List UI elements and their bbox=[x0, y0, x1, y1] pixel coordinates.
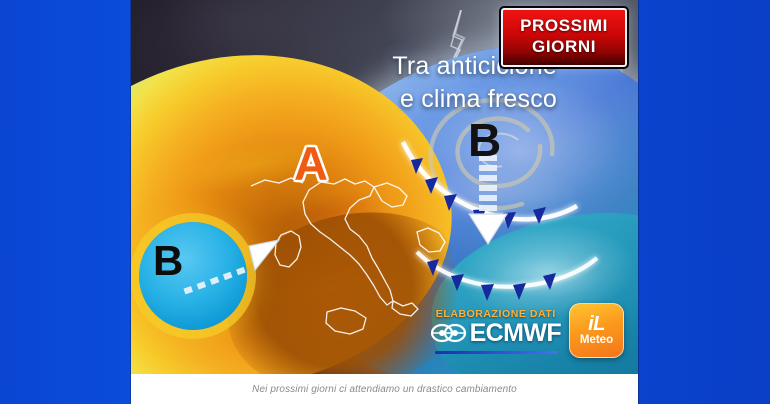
weather-forecast-figure: A B B Tra anticiclone e clima fresco PRO… bbox=[131, 0, 638, 404]
weather-map: A B B Tra anticiclone e clima fresco PRO… bbox=[131, 0, 638, 374]
data-source-eyebrow: ELABORAZIONE DATI bbox=[436, 308, 556, 320]
ecmwf-logo: ECMWF bbox=[431, 321, 561, 346]
pressure-label-b-right: B bbox=[468, 117, 501, 163]
ilmeteo-logo: iL Meteo bbox=[569, 303, 624, 358]
ilmeteo-logo-top: iL bbox=[588, 314, 605, 334]
figure-caption: Nei prossimi giorni ci attendiamo un dra… bbox=[131, 374, 638, 404]
badge-line-1: PROSSIMI bbox=[520, 16, 608, 37]
airflow-arrow-right bbox=[459, 152, 519, 262]
branding-block: ELABORAZIONE DATI ECMWF iL bbox=[431, 303, 624, 358]
ecmwf-mark-icon bbox=[431, 321, 467, 345]
page-root: A B B Tra anticiclone e clima fresco PRO… bbox=[0, 0, 770, 404]
pressure-label-b-left: B bbox=[153, 240, 183, 282]
badge-line-2: GIORNI bbox=[520, 37, 608, 58]
headline-line-2: e clima fresco bbox=[227, 83, 557, 116]
branding-underline bbox=[435, 351, 557, 354]
pressure-label-a: A bbox=[294, 140, 328, 187]
airflow-arrow-left bbox=[167, 226, 287, 311]
ecmwf-label: ECMWF bbox=[470, 321, 561, 346]
figure-caption-text: Nei prossimi giorni ci attendiamo un dra… bbox=[252, 384, 517, 395]
data-source-block: ELABORAZIONE DATI ECMWF bbox=[431, 308, 561, 354]
prossimi-giorni-badge: PROSSIMI GIORNI bbox=[501, 8, 627, 67]
ilmeteo-logo-bottom: Meteo bbox=[580, 335, 613, 347]
